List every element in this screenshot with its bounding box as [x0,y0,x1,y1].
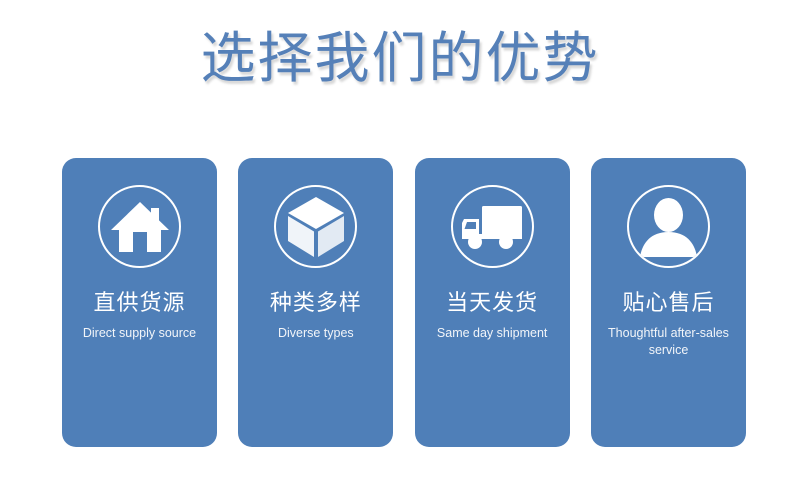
truck-icon [451,185,534,268]
advantage-card-list: 直供货源 Direct supply source 种类多样 Diverse t… [62,158,746,447]
card-title-en: Thoughtful after-sales service [604,325,732,359]
card-title-cn: 当天发货 [446,290,538,316]
card-title-en: Direct supply source [76,325,204,342]
advantage-card-same-day-shipment[interactable]: 当天发货 Same day shipment [415,158,570,447]
card-title-cn: 直供货源 [93,290,185,316]
house-icon [98,185,181,268]
advantage-card-diverse-types[interactable]: 种类多样 Diverse types [238,158,393,447]
card-title-en: Diverse types [252,325,380,342]
card-title-en: Same day shipment [428,325,556,342]
page-title: 选择我们的优势 [0,22,800,94]
card-title-cn: 种类多样 [270,290,362,316]
advantage-card-after-sales-service[interactable]: 贴心售后 Thoughtful after-sales service [591,158,746,447]
advantages-banner: 选择我们的优势 直供货源 Direct supply source [0,0,800,496]
person-icon [627,185,710,268]
box-icon [274,185,357,268]
advantage-card-direct-supply-source[interactable]: 直供货源 Direct supply source [62,158,217,447]
card-title-cn: 贴心售后 [622,290,714,316]
